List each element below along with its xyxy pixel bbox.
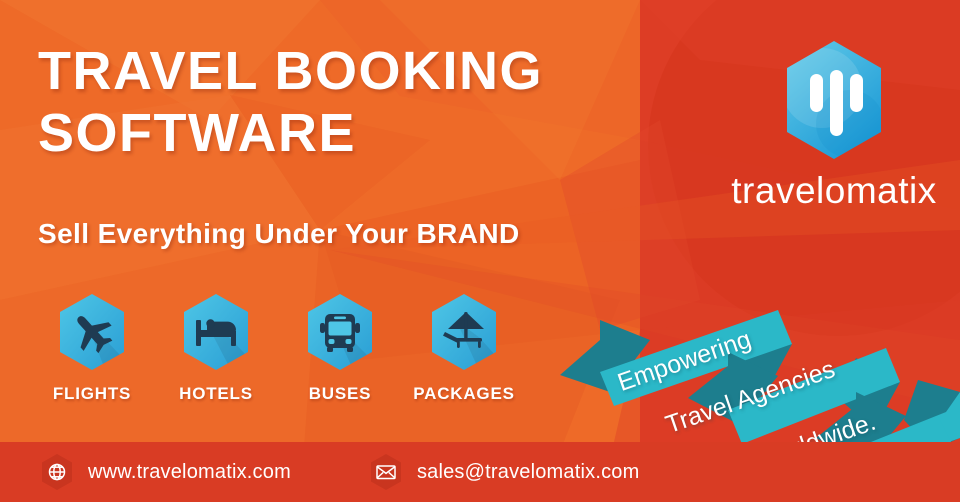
page-title: TRAVEL BOOKING SOFTWARE [38, 40, 543, 164]
globe-icon [40, 453, 74, 491]
headline-line-1: TRAVEL BOOKING [38, 41, 543, 101]
travel-booking-software-banner: TRAVEL BOOKING SOFTWARE Sell Everything … [0, 0, 960, 502]
feature-list: FLIGHTS [30, 292, 526, 404]
feature-label-hotels: HOTELS [179, 384, 253, 404]
feature-item-hotels[interactable]: HOTELS [154, 292, 278, 404]
subheading: Sell Everything Under Your BRAND [38, 218, 520, 250]
beach-umbrella-icon [428, 292, 500, 372]
brand-logo[interactable]: travelomatix [718, 38, 950, 212]
airplane-icon [56, 292, 128, 372]
footer-email[interactable]: sales@travelomatix.com [369, 453, 640, 491]
bed-icon [180, 292, 252, 372]
footer-bar: www.travelomatix.com sales@travelomatix.… [0, 442, 960, 502]
feature-item-packages[interactable]: PACKAGES [402, 292, 526, 404]
footer-website[interactable]: www.travelomatix.com [40, 453, 291, 491]
bus-icon [304, 292, 376, 372]
travelomatix-hexagon-logo-icon [778, 38, 890, 162]
feature-item-buses[interactable]: BUSES [278, 292, 402, 404]
website-text: www.travelomatix.com [88, 461, 291, 484]
feature-label-packages: PACKAGES [413, 384, 515, 404]
brand-wordmark: travelomatix [718, 170, 950, 212]
envelope-icon [369, 453, 403, 491]
email-text: sales@travelomatix.com [417, 461, 640, 484]
headline-line-2: SOFTWARE [38, 103, 356, 163]
feature-label-buses: BUSES [309, 384, 372, 404]
feature-label-flights: FLIGHTS [53, 384, 131, 404]
feature-item-flights[interactable]: FLIGHTS [30, 292, 154, 404]
